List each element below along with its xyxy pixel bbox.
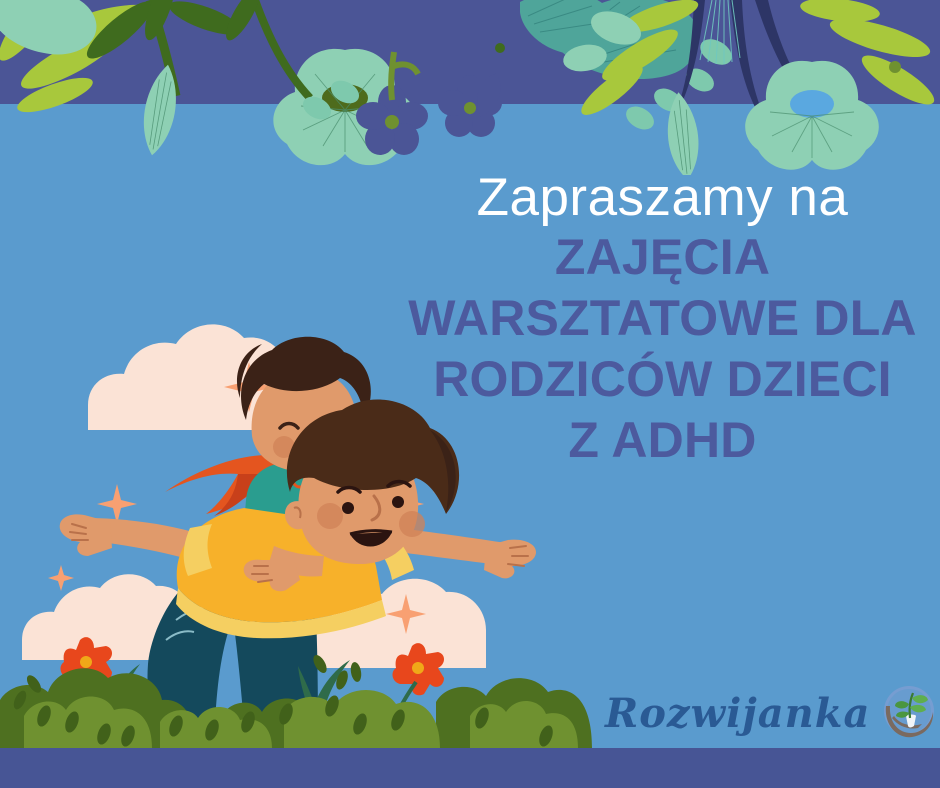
adult-left-arm xyxy=(84,518,200,562)
red-flower-right xyxy=(390,643,444,732)
hand-holding-seedling-icon xyxy=(878,682,940,744)
child-cape xyxy=(165,455,276,514)
headline-line-5: Z ADHD xyxy=(400,410,925,471)
adult-shirt xyxy=(177,508,382,622)
child-shirt xyxy=(244,462,331,536)
adult-right-arm xyxy=(398,528,512,566)
headline-line-1: Zapraszamy na xyxy=(400,168,925,227)
bottom-purple-band xyxy=(0,748,940,788)
grass-tufts xyxy=(88,660,350,728)
adult-jeans xyxy=(148,586,239,748)
red-flower-left xyxy=(61,637,112,730)
bush-leaf-marks xyxy=(35,694,556,749)
child-face xyxy=(252,370,357,472)
floral-top-border xyxy=(0,0,940,175)
brand-name-text: Rozwijanka xyxy=(605,690,870,737)
child-hair xyxy=(241,337,371,420)
headline-line-3: WARSZTATOWE DLA xyxy=(400,288,925,349)
headline-line-4: RODZICÓW DZIECI xyxy=(400,349,925,410)
bush-dark xyxy=(0,668,592,748)
headline-line-2: ZAJĘCIA xyxy=(400,227,925,288)
brand-logo[interactable]: Rozwijanka xyxy=(605,682,940,744)
bush-light xyxy=(24,690,578,748)
headline-block: Zapraszamy na ZAJĘCIA WARSZTATOWE DLA RO… xyxy=(400,168,925,471)
poster-canvas: Zapraszamy na ZAJĘCIA WARSZTATOWE DLA RO… xyxy=(0,0,940,788)
sparkle-group xyxy=(48,362,448,634)
